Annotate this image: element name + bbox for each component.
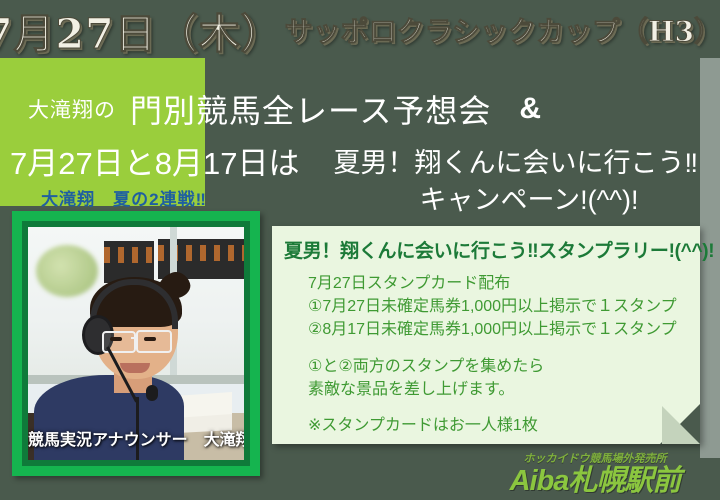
stamp-rally-line: 素敵な景品を差し上げます。 [308, 378, 696, 401]
page-curl-fold-icon [662, 406, 700, 444]
stamp-rally-body: 7月27日スタンプカード配布 ①7月27日未確定馬券1,000円以上掲示で１スタ… [308, 272, 696, 450]
stamp-rally-note: ※スタンプカードはお一人様1枚 [308, 414, 696, 437]
title-date: 7月27日（木） [0, 0, 283, 60]
photo-monitor-screen-content [104, 247, 154, 263]
photo-glasses-bridge [131, 337, 137, 339]
stamp-rally-group-1: 7月27日スタンプカード配布 ①7月27日未確定馬券1,000円以上掲示で１スタ… [308, 272, 696, 342]
announcer-photo-frame: 競馬実況アナウンサー 大滝翔 [12, 211, 260, 476]
accent-green-block [0, 58, 205, 206]
stamp-rally-group-3: ※スタンプカードはお一人様1枚 [308, 414, 696, 437]
photo-glasses-right-lens [136, 330, 172, 353]
title-race-name: サッポロクラシックカップ（H3） [285, 10, 720, 50]
stamp-rally-heading: 夏男！翔くんに会いに行こう‼スタンプラリー!(^^)! [284, 236, 694, 263]
announcer-photo: 競馬実況アナウンサー 大滝翔 [28, 227, 244, 460]
photo-tree [36, 245, 98, 297]
headline-subnote: 大滝翔 夏の2連戦‼ [34, 185, 214, 210]
logo-tagline: ホッカイドウ競馬場外発売所 [480, 450, 710, 466]
stamp-rally-group-2: ①と②両方のスタンプを集めたら 素敵な景品を差し上げます。 [308, 355, 696, 401]
headline-line-2: 7月27日と8月17日は 夏男！翔くんに会いに行こう‼ [0, 140, 706, 180]
logo-brand: Aiba札幌駅前 [480, 466, 710, 496]
announcer-photo-caption: 競馬実況アナウンサー 大滝翔 [28, 426, 244, 450]
poster-root: 7月27日（木） サッポロクラシックカップ（H3） 大滝翔の 門別競馬全レース予… [0, 0, 720, 500]
headline-line-1: 大滝翔の 門別競馬全レース予想会 & [0, 88, 706, 130]
photo-microphone [146, 385, 158, 401]
stamp-rally-line: ①7月27日未確定馬券1,000円以上掲示で１スタンプ [308, 295, 696, 318]
stamp-rally-panel: 夏男！翔くんに会いに行こう‼スタンプラリー!(^^)! 7月27日スタンプカード… [272, 226, 700, 444]
headline-dates: 7月27日と8月17日は [10, 138, 299, 183]
headline-event-name: 門別競馬全レース予想会 [130, 86, 491, 132]
campaign-title-line-1: 夏男！翔くんに会いに行こう‼ [333, 141, 698, 180]
stamp-rally-line: ①と②両方のスタンプを集めたら [308, 355, 696, 378]
announcer-photo-inner-border: 競馬実況アナウンサー 大滝翔 [22, 221, 250, 466]
aiba-logo: ホッカイドウ競馬場外発売所 Aiba札幌駅前 [480, 450, 710, 496]
photo-person-eye-left [110, 337, 122, 341]
stamp-rally-line: 7月27日スタンプカード配布 [308, 272, 696, 295]
poster-title-bar: 7月27日（木） サッポロクラシックカップ（H3） [0, 0, 706, 60]
headline-ampersand: & [519, 92, 541, 126]
stamp-rally-line: ②8月17日未確定馬券1,000円以上掲示で１スタンプ [308, 318, 696, 341]
campaign-title-line-2: キャンペーン!(^^)! [352, 178, 706, 217]
photo-person-eye-right [144, 337, 156, 341]
headline-owner: 大滝翔の [28, 94, 116, 124]
